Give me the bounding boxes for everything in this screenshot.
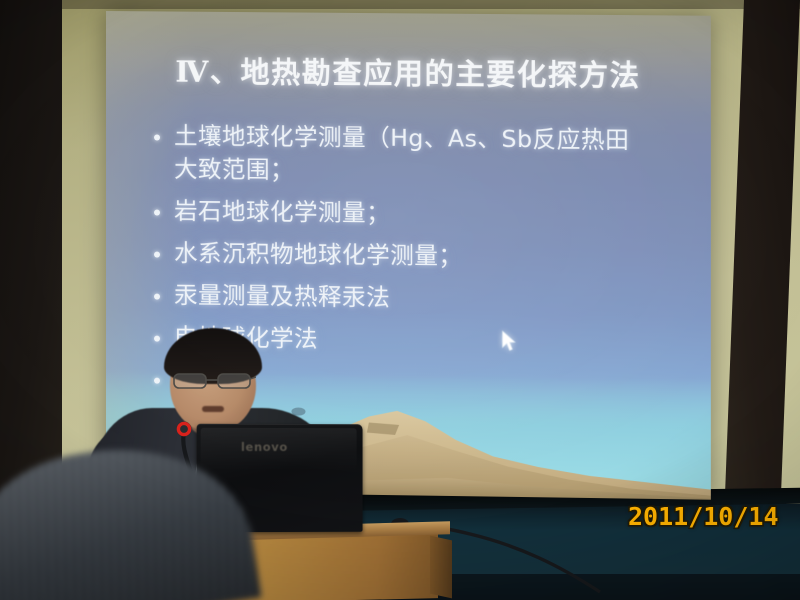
- lecture-photograph: Ⅳ、地热勘查应用的主要化探方法 土壤地球化学测量（Hg、As、Sb反应热田 大致…: [0, 0, 800, 600]
- left-wall-shadow: [0, 0, 62, 530]
- speaker-mouth: [202, 406, 224, 412]
- ceiling-shadow-band: [0, 0, 800, 9]
- camera-date-stamp: 2011/10/14: [628, 502, 779, 531]
- eyeglasses-icon: [172, 372, 256, 391]
- podium-side-panel: [430, 536, 452, 599]
- mouse-pointer-icon[interactable]: [501, 330, 517, 352]
- laptop-brand-label: lenovo: [241, 440, 288, 454]
